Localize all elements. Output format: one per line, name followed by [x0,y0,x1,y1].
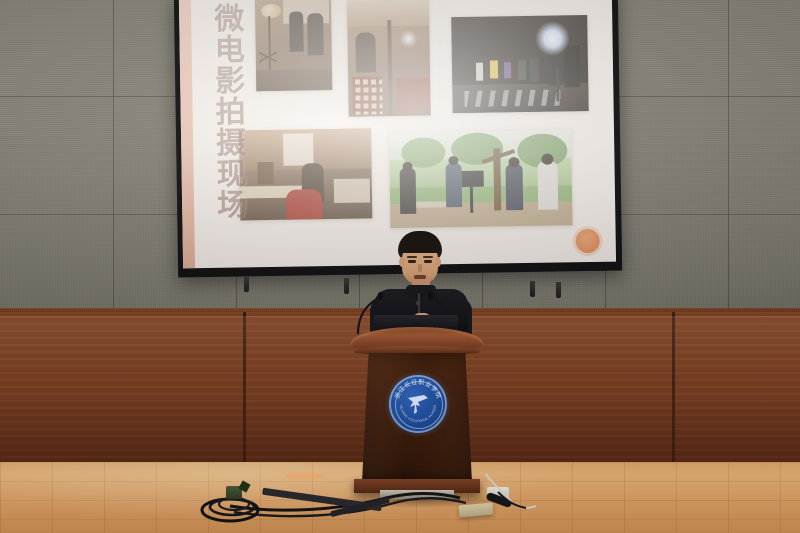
floor-highlight [287,474,323,478]
speaker-nose [418,264,422,272]
crane-icon [404,390,432,418]
speaker-eyebrow-right [423,256,433,258]
photograph-lecture-hall: 微电影拍摄现场 [0,0,800,533]
speaker-ear-left [399,257,405,267]
speaker-eye-left [408,260,416,263]
speaker-eyebrow-left [407,256,417,258]
speaker-fringe [399,239,441,253]
academy-emblem: 浙江长征职业学院 ZHEJIANG VOCATIONAL ACADEMY [389,375,447,433]
speaker-ear-right [435,257,441,267]
podium-power-cable [480,470,550,520]
speaker-eye-right [424,260,432,263]
podium: 浙江长征职业学院 ZHEJIANG VOCATIONAL ACADEMY [352,327,482,499]
